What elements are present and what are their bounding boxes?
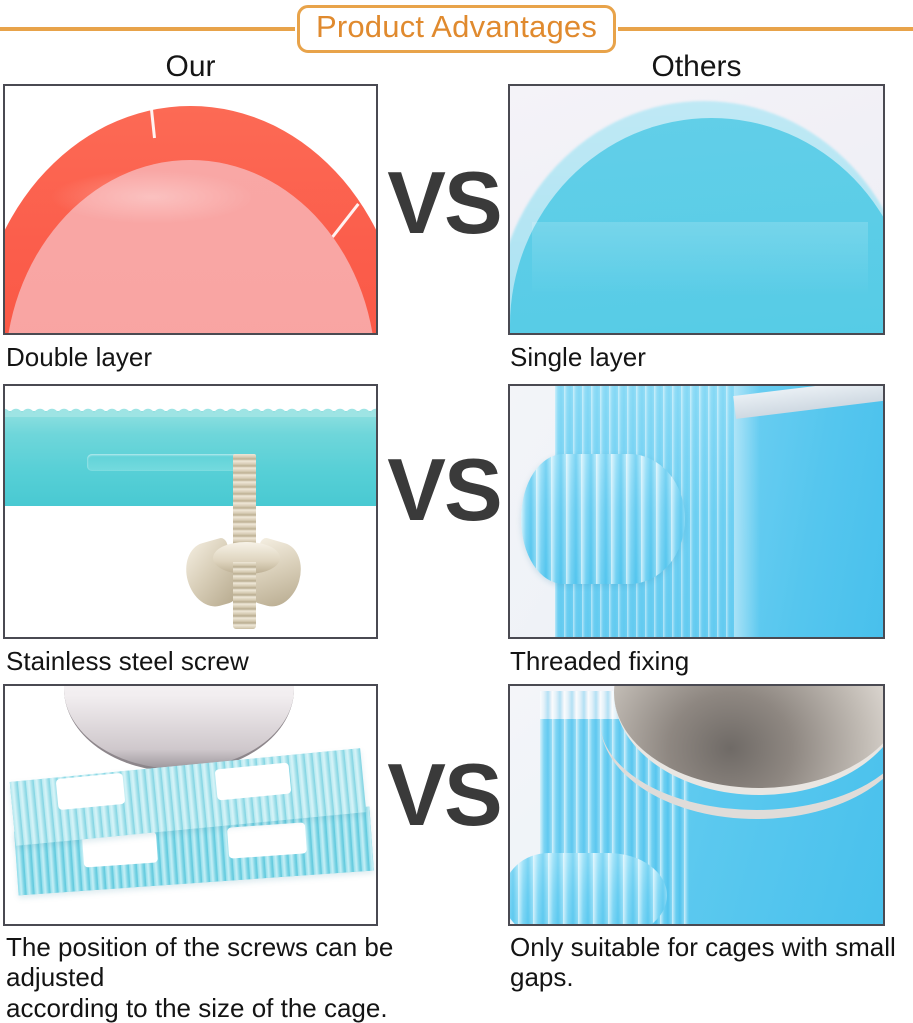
comparison-grid: VS Double layer Single layer [0,84,913,996]
product-image-others-1 [508,84,885,335]
title-box: Product Advantages [297,5,616,53]
product-image-ours-1 [3,84,378,335]
comparison-row-1: VS Double layer Single layer [0,84,913,384]
steel-bowl-small-gap-bracket-icon [510,686,883,924]
title-bar: Product Advantages [0,6,913,52]
product-image-ours-2 [3,384,378,639]
vs-label-3: VS [380,744,508,846]
caption-ours-3: The position of the screws can be adjust… [6,932,476,1023]
column-header-others: Others [508,50,885,84]
pink-double-layer-bowl-icon [5,86,376,333]
cyan-single-layer-bowl-icon [510,86,883,333]
vs-label-1: VS [380,152,508,254]
product-image-others-3 [508,684,885,926]
product-image-ours-3 [3,684,378,926]
adjustable-ribbed-brackets-icon [5,686,376,924]
caption-ours-1: Double layer [6,342,476,372]
plastic-threaded-knob-icon [510,386,883,637]
title-rule-right [618,27,913,31]
product-image-others-2 [508,384,885,639]
title-rule-left [0,27,295,31]
page-title: Product Advantages [316,10,597,45]
stainless-wing-screw-icon [5,386,376,637]
comparison-row-2: VS Stainless steel screw Threaded fixing [0,384,913,684]
vs-label-2: VS [380,439,508,541]
caption-others-1: Single layer [510,342,910,372]
column-header-ours: Our [3,50,378,84]
comparison-row-3: VS The position of the screws can be adj… [0,684,913,996]
caption-ours-2: Stainless steel screw [6,646,476,676]
caption-others-2: Threaded fixing [510,646,910,676]
caption-others-3: Only suitable for cages with small gaps. [510,932,910,993]
